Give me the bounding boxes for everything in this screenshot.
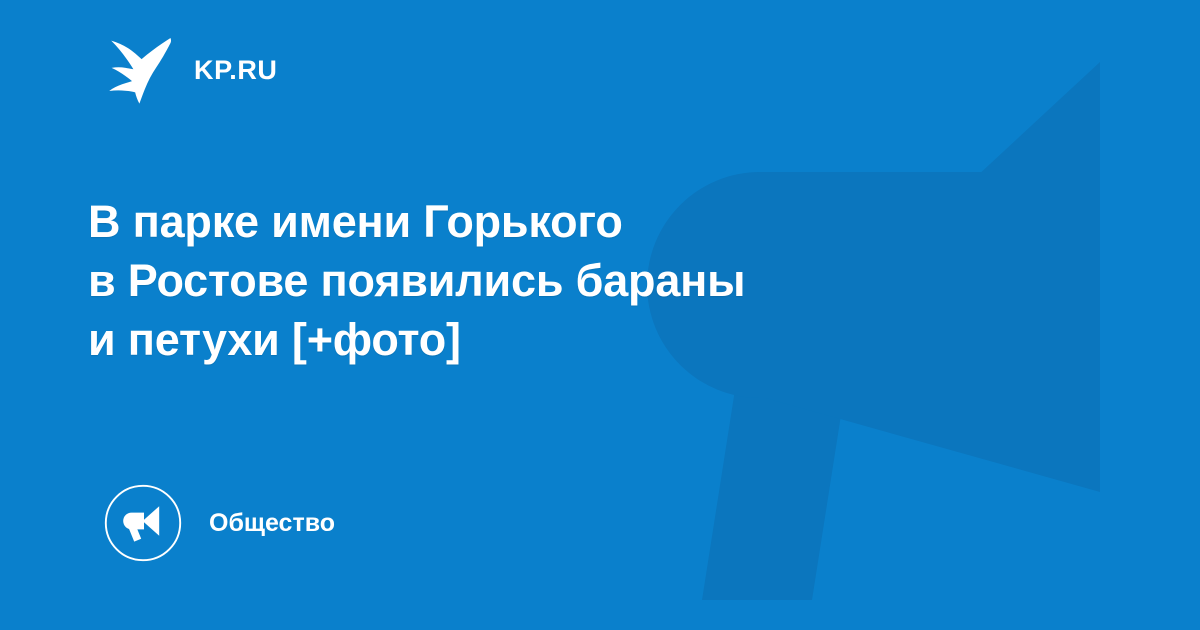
category-badge[interactable]: Общество <box>103 483 335 563</box>
category-label: Общество <box>209 511 335 536</box>
page-title: В парке имени Горького в Ростове появили… <box>88 192 988 369</box>
brand-header[interactable]: KP.RU <box>108 36 278 104</box>
headline-line-1: В парке имени Горького <box>88 192 988 251</box>
brand-name: KP.RU <box>194 57 278 84</box>
headline-line-2: в Ростове появились бараны <box>88 251 988 310</box>
megaphone-icon <box>103 483 183 563</box>
headline-line-3: и петухи [+фото] <box>88 310 988 369</box>
article-share-card: KP.RU В парке имени Горького в Ростове п… <box>0 0 1200 630</box>
swallow-bird-icon <box>108 36 172 104</box>
